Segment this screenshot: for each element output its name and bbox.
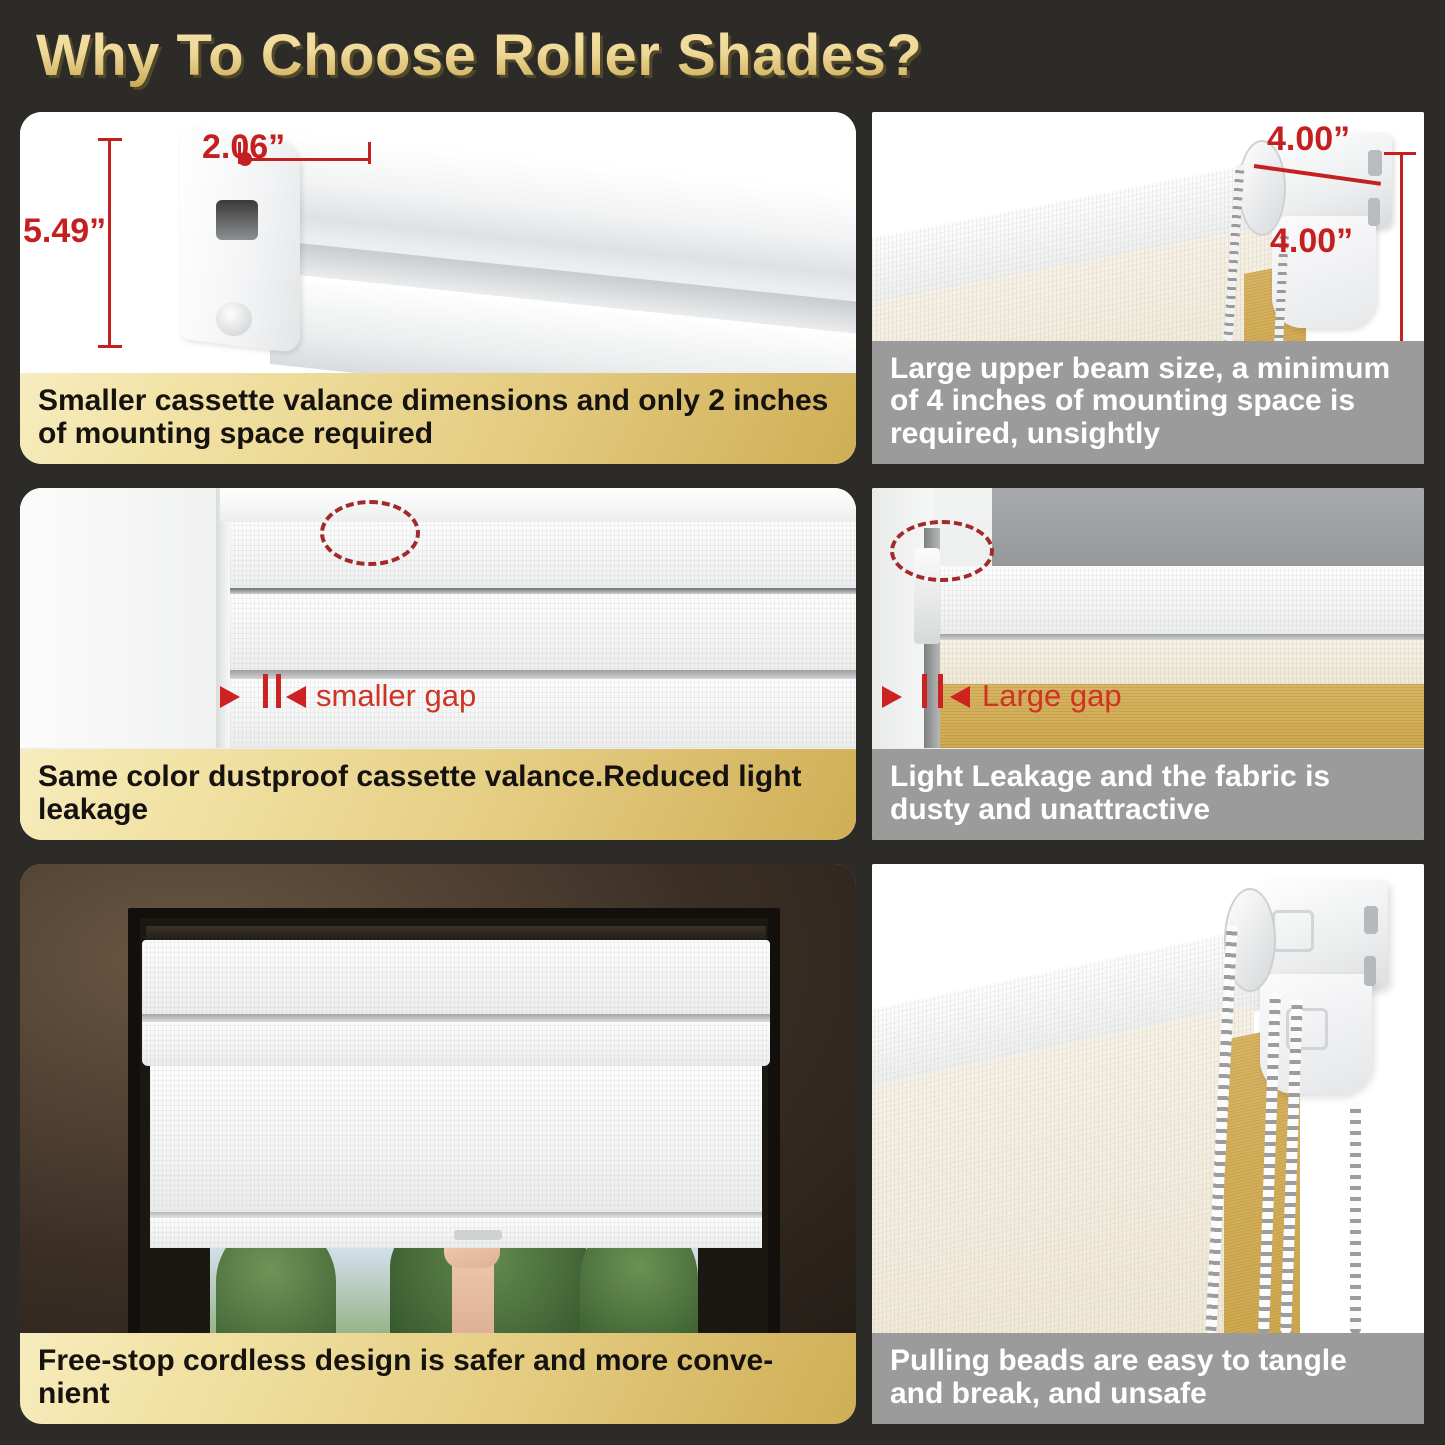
- height-dimension-label: 5.49”: [23, 212, 106, 251]
- gap-arrow-right-icon: [950, 686, 970, 708]
- valance-lower: [142, 1022, 770, 1066]
- page-title: Why To Choose Roller Shades?: [36, 22, 922, 89]
- cassette-valance: [142, 940, 770, 1018]
- gap-marker-b: [276, 674, 281, 708]
- gap-arrow-left-icon: [220, 686, 240, 708]
- panel-dustproof-valance: smaller gap Same color dustproof cassett…: [20, 488, 856, 840]
- beam-height-label: 4.00”: [1270, 222, 1353, 261]
- frame-edge: [216, 488, 230, 748]
- shade-fabric: [150, 1066, 762, 1216]
- width-dim-tick-right: [368, 142, 371, 164]
- gap-marker-a: [263, 674, 268, 708]
- valance-lip: [142, 1014, 770, 1022]
- window-frame-left: [20, 488, 220, 748]
- height-dim-tick-top: [98, 138, 122, 141]
- bracket-icon-up: [1272, 910, 1314, 952]
- width-dimension-label: 2.06”: [202, 128, 285, 167]
- smaller-gap-label: smaller gap: [316, 678, 476, 714]
- gap-marker-a: [922, 674, 927, 708]
- panel-6-caption: Pulling beads are easy to tangle and bre…: [872, 1333, 1424, 1424]
- pull-tab: [454, 1230, 502, 1240]
- window-frame-top: [220, 488, 856, 522]
- highlight-ellipse-icon: [320, 500, 420, 566]
- panel-1-caption: Smaller cassette valance dimensions and …: [20, 373, 856, 464]
- end-cap-slot: [216, 200, 258, 240]
- highlight-ellipse-icon: [890, 520, 994, 582]
- bracket-slot-1: [1364, 906, 1378, 934]
- gap-arrow-left-icon: [882, 686, 902, 708]
- panel-pulling-beads: Pulling beads are easy to tangle and bre…: [872, 864, 1424, 1424]
- panel-4-caption: Light Leakage and the fabric is dusty an…: [872, 749, 1424, 840]
- infographic-page: Why To Choose Roller Shades? Why To Choo…: [0, 0, 1445, 1445]
- shade-roll: [932, 566, 1424, 636]
- bracket-slot-1: [1368, 150, 1382, 176]
- beam-height-dim-line: [1400, 152, 1403, 352]
- gap-marker-b: [938, 674, 943, 708]
- bracket-slot-2: [1364, 956, 1376, 986]
- gap-arrow-right-icon: [286, 686, 306, 708]
- large-gap-label: Large gap: [982, 678, 1122, 714]
- end-cap-screw: [216, 302, 252, 336]
- panel-3-caption: Same color dustproof cassette valance.Re…: [20, 749, 856, 840]
- window-header-shadow: [146, 926, 766, 940]
- beam-width-label: 4.00”: [1267, 120, 1350, 159]
- shade-fabric-upper: [230, 594, 856, 674]
- panel-smaller-cassette: 2.06” 5.49” Smaller cassette valance dim…: [20, 112, 856, 464]
- panel-light-leakage: Large gap Light Leakage and the fabric i…: [872, 488, 1424, 840]
- panel-2-caption: Large upper beam size, a minimum of 4 in…: [872, 341, 1424, 464]
- height-dim-tick-bottom: [98, 345, 122, 348]
- panel-5-caption: Free-stop cordless design is safer and m…: [20, 1333, 856, 1424]
- bead-chain-4: [1350, 1102, 1361, 1334]
- height-dim-line: [108, 138, 111, 348]
- panel-large-beam: 4.00” 4.00” Large upper beam size, a min…: [872, 112, 1424, 464]
- bracket-slot-2: [1368, 198, 1380, 226]
- beam-height-tick-top: [1384, 152, 1416, 155]
- panel-cordless-design: Free-stop cordless design is safer and m…: [20, 864, 856, 1424]
